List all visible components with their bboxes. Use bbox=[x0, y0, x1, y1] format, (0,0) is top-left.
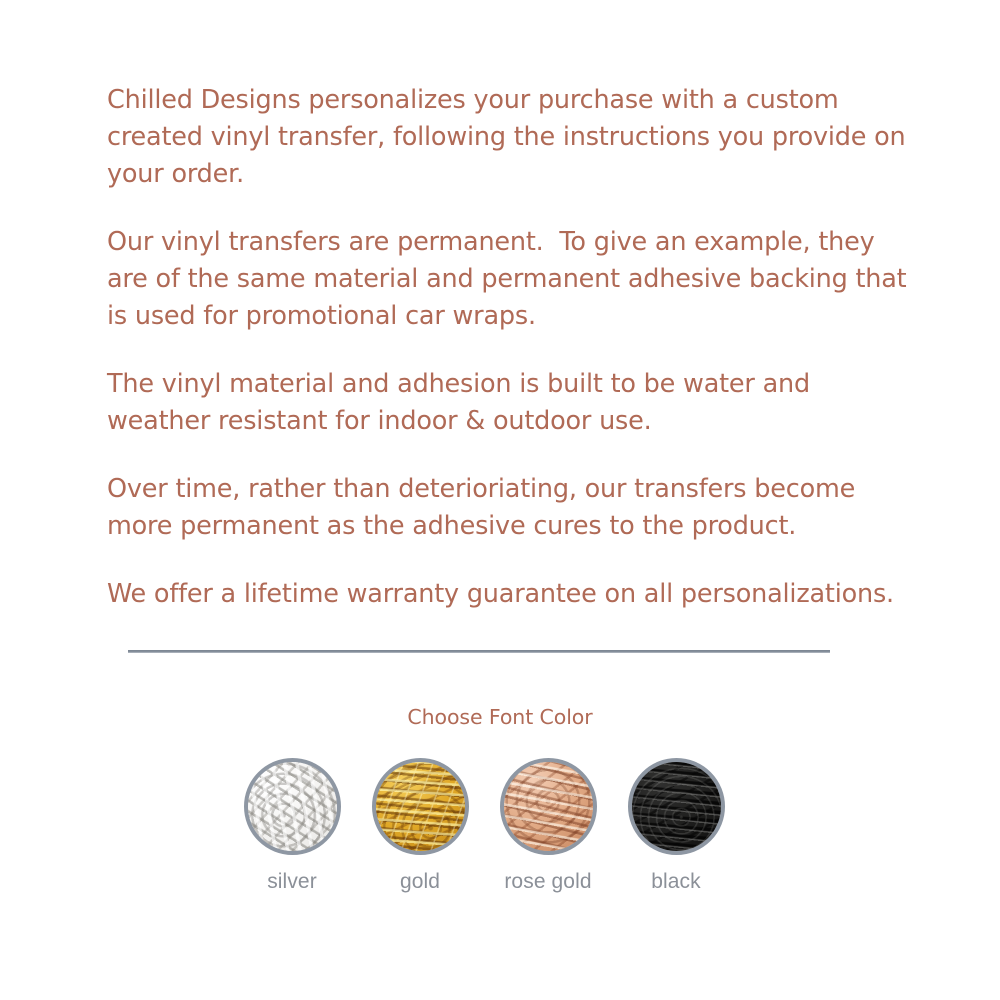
gold-foil-texture bbox=[376, 762, 465, 851]
font-color-option-rose-gold[interactable]: rose gold bbox=[484, 758, 612, 895]
font-color-swatch-row: silver gold rose gold bbox=[228, 758, 743, 895]
paragraph-intro: Chilled Designs personalizes your purcha… bbox=[107, 82, 907, 193]
choose-font-color-title: Choose Font Color bbox=[0, 703, 1000, 731]
font-color-option-silver[interactable]: silver bbox=[228, 758, 356, 895]
silver-foil-texture bbox=[248, 762, 337, 851]
product-description-panel: Chilled Designs personalizes your purcha… bbox=[0, 0, 1000, 1000]
paragraph-permanence: Our vinyl transfers are permanent. To gi… bbox=[107, 224, 907, 335]
font-color-option-black[interactable]: black bbox=[612, 758, 740, 895]
swatch-gold-icon[interactable] bbox=[372, 758, 469, 855]
description-text-block: Chilled Designs personalizes your purcha… bbox=[107, 82, 907, 613]
section-divider bbox=[128, 650, 830, 653]
swatch-label-gold: gold bbox=[400, 869, 440, 895]
swatch-silver-icon[interactable] bbox=[244, 758, 341, 855]
font-color-option-gold[interactable]: gold bbox=[356, 758, 484, 895]
paragraph-over-time: Over time, rather than deterioriating, o… bbox=[107, 471, 907, 545]
swatch-label-silver: silver bbox=[267, 869, 317, 895]
rose-gold-foil-texture bbox=[504, 762, 593, 851]
black-foil-texture bbox=[632, 762, 721, 851]
swatch-label-black: black bbox=[651, 869, 701, 895]
swatch-label-rose-gold: rose gold bbox=[504, 869, 591, 895]
swatch-black-icon[interactable] bbox=[628, 758, 725, 855]
paragraph-warranty: We offer a lifetime warranty guarantee o… bbox=[107, 576, 907, 613]
swatch-rose-gold-icon[interactable] bbox=[500, 758, 597, 855]
paragraph-weather: The vinyl material and adhesion is built… bbox=[107, 366, 907, 440]
